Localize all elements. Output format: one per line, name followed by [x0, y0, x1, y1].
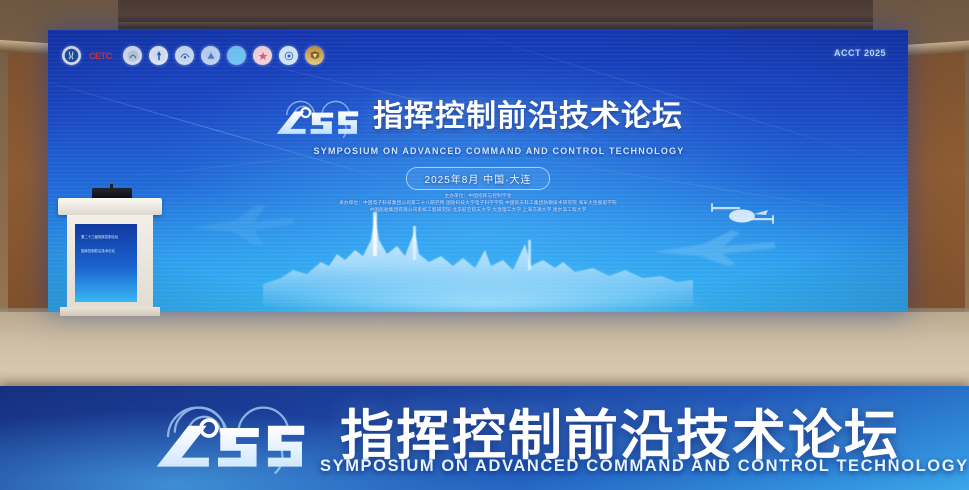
logo-gold-shield-icon — [305, 46, 324, 65]
sponsor-logo-row: CETC — [62, 46, 324, 65]
svg-text:CETC: CETC — [89, 51, 113, 61]
podium-graphic-panel: 第二十三届指挥控制论坛 指挥控制前沿技术论坛 — [75, 224, 137, 302]
podium-top — [58, 198, 162, 215]
organizer-text-block: 主办单位：中国指挥与控制学会 承办单位：中国电子科技集团公司第二十八研究所 国防… — [48, 192, 908, 213]
screen-title-en: SYMPOSIUM ON ADVANCED COMMAND AND CONTRO… — [90, 146, 908, 156]
logo-aerospace-icon — [175, 46, 194, 65]
led-backdrop-screen: CETC ACCT — [48, 30, 908, 312]
logo-cetc-red-wordmark-icon: CETC — [88, 46, 116, 65]
logo-cyan-disc-icon — [227, 46, 246, 65]
conference-stage-photo: CETC ACCT — [0, 0, 969, 490]
podium-panel-line-2: 指挥控制前沿技术论坛 — [81, 248, 132, 254]
organizer-line: 承办单位：中国电子科技集团公司第二十八研究所 国防科技大学电子科学学院 中国航天… — [48, 199, 908, 206]
foreground-stage-banner: 指挥控制前沿技术论坛 SYMPOSIUM ON ADVANCED COMMAND… — [0, 386, 969, 490]
podium-panel-line-1: 第二十三届指挥控制论坛 — [81, 234, 132, 240]
logo-target-blue-icon — [279, 46, 298, 65]
city-skyline-silhouette — [263, 210, 693, 306]
screen-title-cn: 指挥控制前沿技术论坛 — [373, 102, 683, 132]
stage-floor — [0, 312, 969, 394]
logomark-2025 — [273, 92, 367, 142]
logo-nudt-icon — [149, 46, 168, 65]
foreground-title-en: SYMPOSIUM ON ADVANCED COMMAND AND CONTRO… — [320, 457, 969, 476]
foreground-title-cn: 指挥控制前沿技术论坛 — [340, 409, 900, 463]
date-location-pill: 2025年8月 中国·大连 — [406, 167, 551, 190]
acct-brand-mark: ACCT 2025 — [834, 48, 886, 58]
speaker-podium: 第二十三届指挥控制论坛 指挥控制前沿技术论坛 — [58, 198, 162, 316]
screen-title-row: 指挥控制前沿技术论坛 — [48, 92, 908, 142]
logo-institute-grey-icon — [123, 46, 142, 65]
ceiling — [0, 0, 969, 34]
organizer-line: 主办单位：中国指挥与控制学会 — [48, 192, 908, 199]
logo-pink-emblem-icon — [253, 46, 272, 65]
ceiling-beam — [0, 22, 969, 28]
organizer-line: 中国船舶集团有限公司系统工程研究院 北京航空航天大学 大连理工大学 上海交通大学… — [48, 206, 908, 213]
podium-base — [60, 307, 160, 316]
logo-navy-icon — [201, 46, 220, 65]
foreground-logomark-2025 — [140, 394, 330, 478]
screen-title-block: 指挥控制前沿技术论坛 SYMPOSIUM ON ADVANCED COMMAND… — [48, 92, 908, 190]
logo-cetc-blue-icon — [62, 46, 81, 65]
